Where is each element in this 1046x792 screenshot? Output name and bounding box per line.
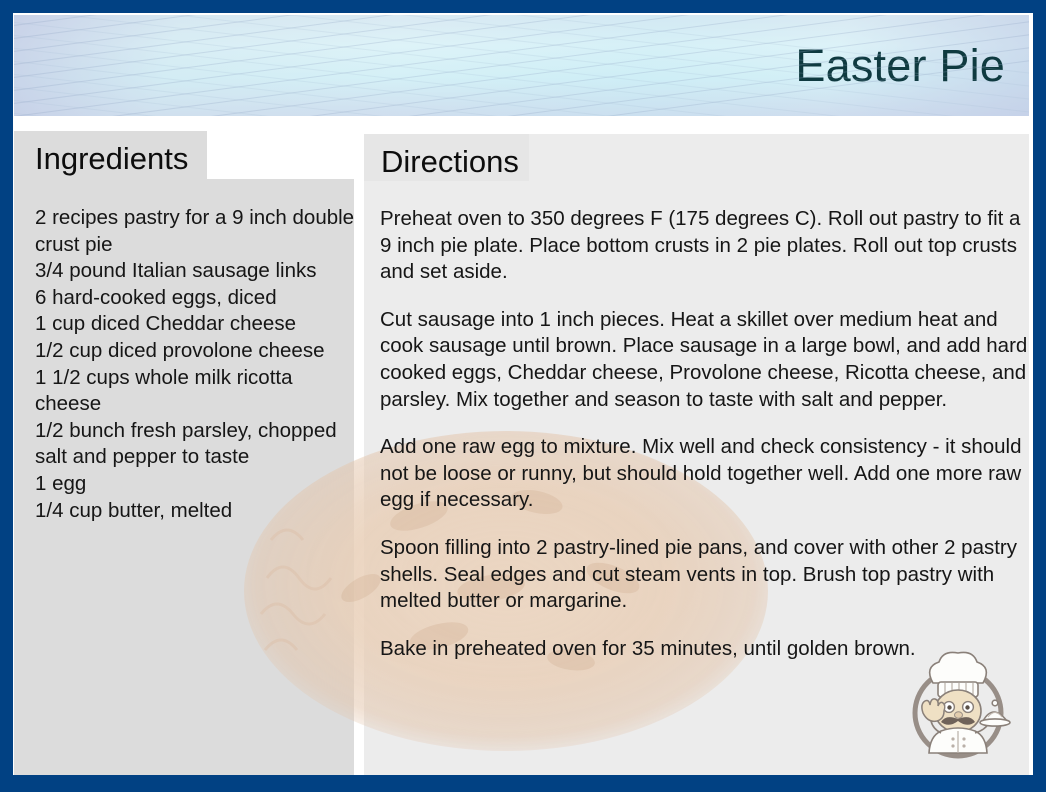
- direction-step: Add one raw egg to mixture. Mix well and…: [380, 434, 1032, 514]
- ingredient-item: 1/4 cup butter, melted: [35, 498, 361, 525]
- ingredient-item: 2 recipes pastry for a 9 inch double cru…: [35, 205, 361, 258]
- ingredient-item: salt and pepper to taste: [35, 444, 361, 471]
- recipe-page: Easter Pie: [13, 13, 1033, 775]
- ingredient-item: 1 egg: [35, 471, 361, 498]
- ingredient-item: 6 hard-cooked eggs, diced: [35, 285, 361, 312]
- ingredient-item: 1 1/2 cups whole milk ricotta cheese: [35, 365, 361, 418]
- chef-mascot-icon: [897, 647, 1019, 765]
- ingredient-item: 1/2 bunch fresh parsley, chopped: [35, 418, 361, 445]
- directions-body: Preheat oven to 350 degrees F (175 degre…: [380, 206, 1032, 662]
- direction-step: Preheat oven to 350 degrees F (175 degre…: [380, 206, 1032, 286]
- directions-heading: Directions: [381, 144, 519, 180]
- ingredients-heading: Ingredients: [35, 141, 188, 177]
- ingredient-item: 1 cup diced Cheddar cheese: [35, 311, 361, 338]
- direction-step: Spoon filling into 2 pastry-lined pie pa…: [380, 535, 1032, 615]
- ingredient-item: 3/4 pound Italian sausage links: [35, 258, 361, 285]
- title-banner: Easter Pie: [14, 15, 1029, 116]
- ingredients-list: 2 recipes pastry for a 9 inch double cru…: [35, 205, 361, 524]
- direction-step: Cut sausage into 1 inch pieces. Heat a s…: [380, 307, 1032, 413]
- ingredient-item: 1/2 cup diced provolone cheese: [35, 338, 361, 365]
- recipe-card: Easter Pie: [0, 0, 1046, 792]
